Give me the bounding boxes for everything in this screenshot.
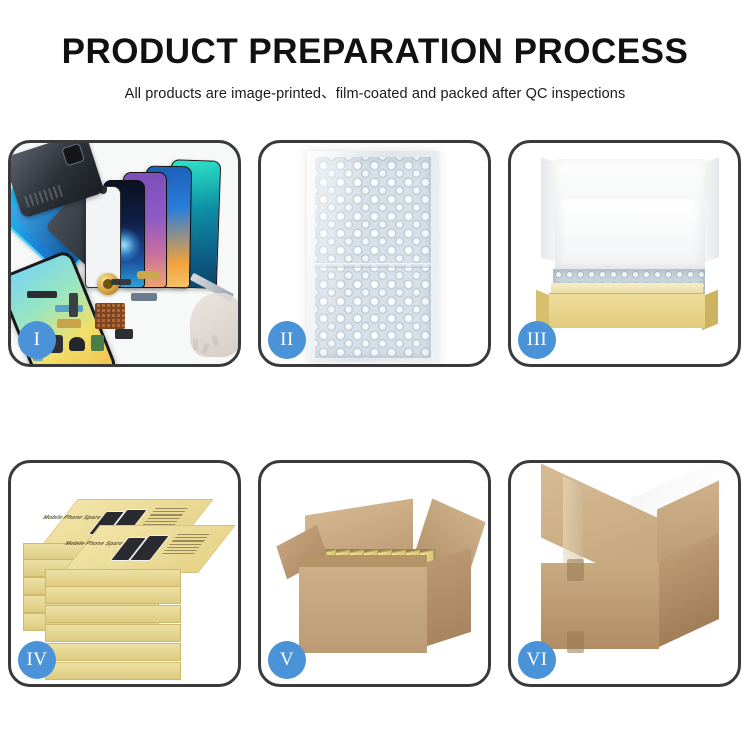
process-steps-grid: I II (8, 140, 742, 687)
flex-cable-2 (57, 319, 81, 328)
phone-screen-white-blank (85, 186, 121, 288)
step-badge-5: V (268, 641, 306, 679)
battery-part (91, 335, 104, 351)
carton-front-face (299, 567, 427, 653)
retail-box-front-face (45, 569, 181, 587)
step-panel-1: I (8, 140, 241, 367)
retail-box-front-face (45, 624, 181, 642)
step-panel-4: Mobile Phone Spare Parts (8, 460, 241, 687)
retail-box-front-face (45, 643, 181, 661)
page-subtitle: All products are image-printed、film-coat… (0, 82, 750, 103)
step-panel-6: VI (508, 460, 741, 687)
carton-handle-tab-top (567, 559, 584, 581)
bubble-wrap-sheet (307, 151, 439, 362)
sealed-carton-front-face (541, 563, 659, 649)
product-preparation-infographic: PRODUCT PREPARATION PROCESS All products… (0, 0, 750, 750)
step-badge-4: IV (18, 641, 56, 679)
flex-cable-5 (137, 271, 159, 279)
step-badge-2: II (268, 321, 306, 359)
step-badge-1: I (18, 321, 56, 359)
retail-box-front-face (45, 586, 181, 604)
retail-box-front-face (45, 605, 181, 623)
page-title: PRODUCT PREPARATION PROCESS (0, 34, 750, 69)
foam-sheet (559, 199, 701, 271)
small-part-12 (111, 279, 131, 285)
step-panel-2: II (258, 140, 491, 367)
small-part-11 (27, 291, 57, 298)
retail-box-front-face (45, 662, 181, 680)
bubble-wrap-gloss (307, 151, 360, 362)
hand-shape (190, 293, 238, 357)
box-kraft-front (549, 293, 705, 328)
step-panel-3: III (508, 140, 741, 367)
carton-side-face (427, 548, 471, 646)
step-badge-6: VI (518, 641, 556, 679)
flex-cable-4 (131, 293, 157, 301)
step-panel-5: V (258, 460, 491, 687)
phone-screen-fan (83, 153, 238, 288)
small-part-9 (115, 329, 133, 339)
flex-cable-3 (69, 293, 78, 317)
header: PRODUCT PREPARATION PROCESS All products… (0, 0, 750, 103)
chip-grid-part (95, 303, 125, 329)
step-badge-3: III (518, 321, 556, 359)
speaker-part (69, 337, 85, 351)
carton-handle-tab-bottom (567, 631, 584, 653)
